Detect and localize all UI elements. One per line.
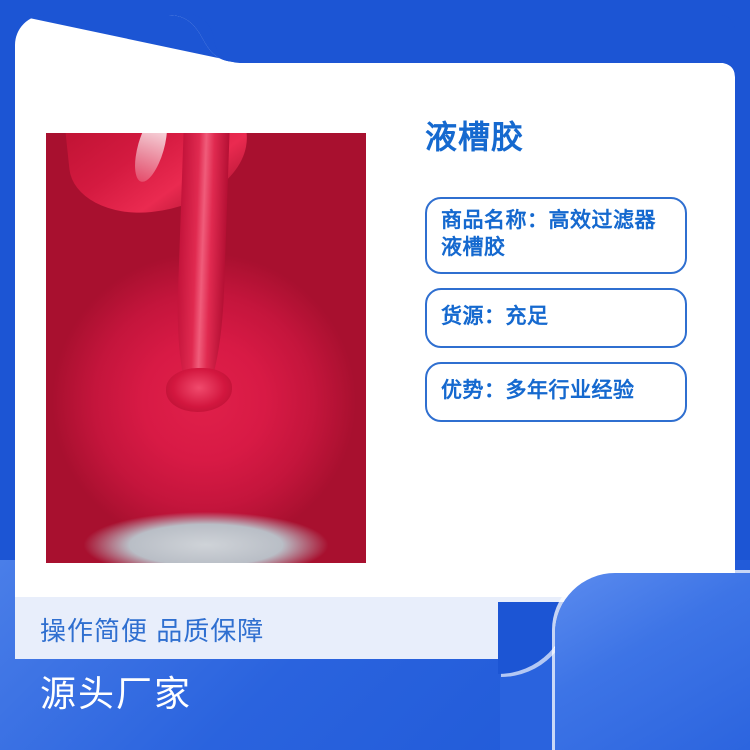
product-image — [46, 133, 366, 563]
spec-text-supply: 货源：充足 — [441, 304, 549, 331]
spec-text-advantage: 优势：多年行业经验 — [441, 378, 635, 405]
bottom-right-blob — [555, 573, 750, 750]
slogan-text: 操作简便 品质保障 — [40, 611, 264, 648]
footer-headline: 源头厂家 — [40, 676, 192, 712]
glue-stream — [174, 133, 229, 393]
spec-text-name: 商品名称：高效过滤器液槽胶 — [441, 208, 673, 262]
page-title: 液槽胶 — [425, 120, 687, 155]
spec-box-name: 商品名称：高效过滤器液槽胶 — [425, 197, 687, 274]
product-photo-canvas — [46, 133, 366, 563]
panel-notch-overlay — [0, 0, 750, 120]
spec-box-supply: 货源：充足 — [425, 288, 687, 348]
glue-splash — [166, 368, 232, 412]
poster-root: 液槽胶 商品名称：高效过滤器液槽胶 货源：充足 优势：多年行业经验 操作简便 品… — [0, 0, 750, 750]
product-info-column: 液槽胶 商品名称：高效过滤器液槽胶 货源：充足 优势：多年行业经验 — [425, 120, 687, 436]
spec-box-advantage: 优势：多年行业经验 — [425, 362, 687, 422]
